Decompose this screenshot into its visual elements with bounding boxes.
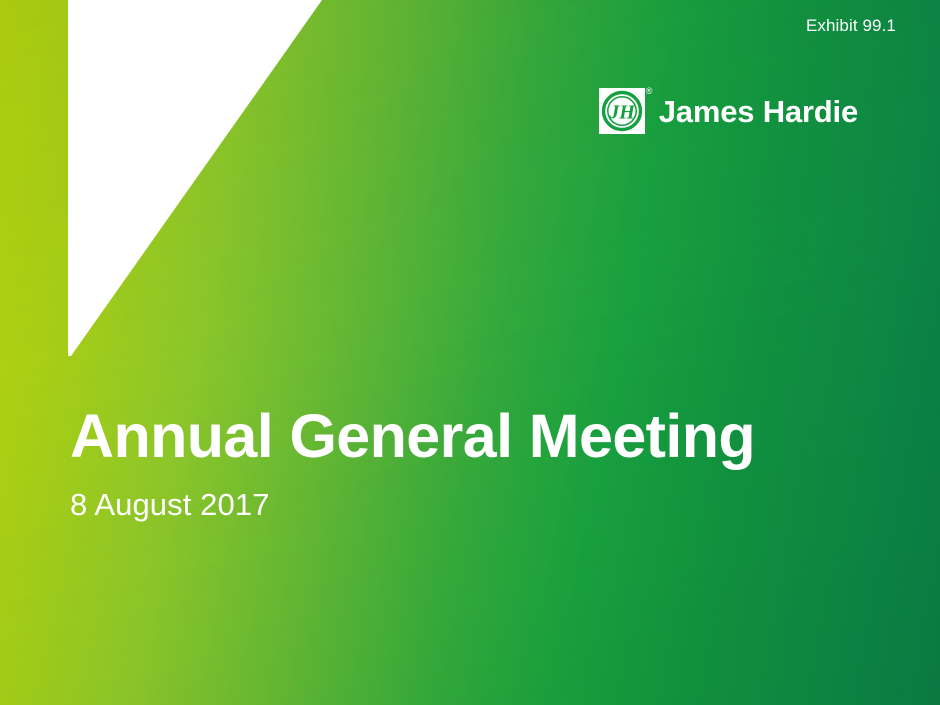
brand-logo-lockup: JH ® James Hardie: [599, 88, 858, 134]
james-hardie-logo-mark: JH ®: [599, 88, 645, 134]
brand-diagonal-wedge-icon: [0, 0, 400, 380]
james-hardie-monogram-icon: JH: [599, 88, 645, 134]
page-title: Annual General Meeting: [70, 404, 830, 468]
james-hardie-wordmark: James Hardie: [659, 96, 858, 127]
title-slide: Exhibit 99.1 JH ® James Hardie Annual Ge…: [0, 0, 940, 705]
registered-trademark-symbol: ®: [646, 87, 653, 96]
svg-text:JH: JH: [608, 102, 636, 124]
slide-date-subtitle: 8 August 2017: [70, 486, 830, 523]
exhibit-label: Exhibit 99.1: [806, 17, 896, 36]
title-block: Annual General Meeting 8 August 2017: [70, 404, 830, 523]
